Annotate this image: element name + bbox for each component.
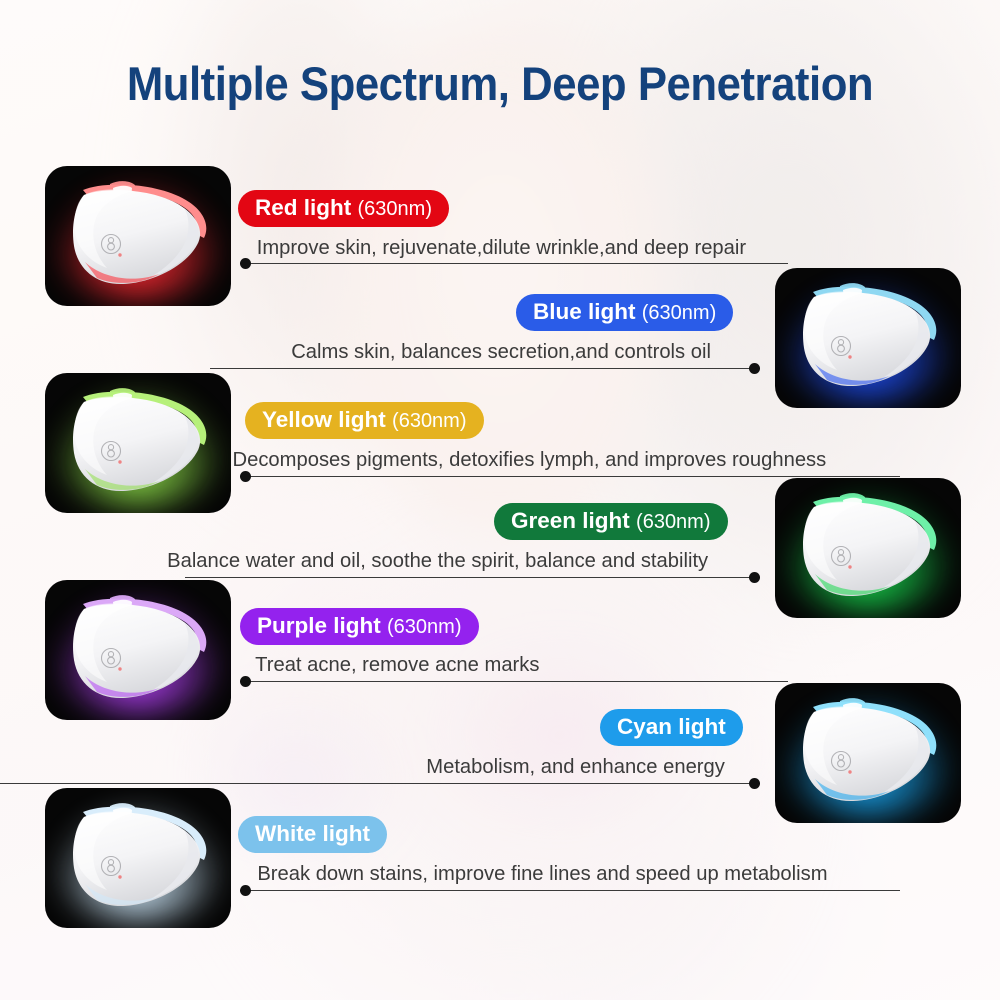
connector-rule-cyan bbox=[0, 783, 760, 784]
light-badge-yellow: Yellow light (630nm) bbox=[245, 402, 484, 439]
connector-dot-cyan bbox=[749, 778, 760, 789]
connector-dot-yellow bbox=[240, 471, 251, 482]
connector-dot-purple bbox=[240, 676, 251, 687]
page-title: Multiple Spectrum, Deep Penetration bbox=[35, 56, 965, 111]
connector-rule-yellow bbox=[240, 476, 900, 477]
light-badge-wavelength-blue: (630nm) bbox=[642, 302, 716, 324]
led-face-mask-red bbox=[63, 182, 213, 290]
led-face-mask-white bbox=[63, 804, 213, 912]
light-badge-label-red: Red light bbox=[255, 195, 351, 220]
light-badge-label-white: White light bbox=[255, 821, 370, 846]
light-badge-cyan: Cyan light bbox=[600, 709, 743, 746]
product-thumbnail-green bbox=[775, 478, 961, 618]
light-description-green: Balance water and oil, soothe the spirit… bbox=[167, 549, 708, 573]
connector-rule-red bbox=[240, 263, 788, 264]
connector-dot-red bbox=[240, 258, 251, 269]
connector-dot-white bbox=[240, 885, 251, 896]
led-face-mask-yellow bbox=[63, 389, 213, 497]
light-description-purple: Treat acne, remove acne marks bbox=[255, 653, 539, 677]
light-badge-wavelength-purple: (630nm) bbox=[387, 616, 461, 638]
led-face-mask-green bbox=[793, 494, 943, 602]
light-badge-purple: Purple light (630nm) bbox=[240, 608, 479, 645]
light-description-yellow: Decomposes pigments, detoxifies lymph, a… bbox=[233, 448, 827, 472]
product-thumbnail-cyan bbox=[775, 683, 961, 823]
connector-line-yellow bbox=[240, 471, 900, 482]
product-thumbnail-purple bbox=[45, 580, 231, 720]
light-badge-green: Green light (630nm) bbox=[494, 503, 728, 540]
light-badge-label-purple: Purple light bbox=[257, 613, 381, 638]
light-description-red: Improve skin, rejuvenate,dilute wrinkle,… bbox=[257, 236, 746, 260]
light-description-blue: Calms skin, balances secretion,and contr… bbox=[291, 340, 711, 364]
light-badge-blue: Blue light (630nm) bbox=[516, 294, 733, 331]
connector-line-purple bbox=[240, 676, 788, 687]
product-thumbnail-blue bbox=[775, 268, 961, 408]
light-badge-red: Red light (630nm) bbox=[238, 190, 449, 227]
connector-dot-green bbox=[749, 572, 760, 583]
light-badge-label-cyan: Cyan light bbox=[617, 714, 726, 739]
product-thumbnail-red bbox=[45, 166, 231, 306]
light-badge-wavelength-red: (630nm) bbox=[358, 198, 432, 220]
led-face-mask-blue bbox=[793, 284, 943, 392]
connector-rule-green bbox=[185, 577, 760, 578]
light-badge-wavelength-yellow: (630nm) bbox=[392, 410, 466, 432]
connector-dot-blue bbox=[749, 363, 760, 374]
led-face-mask-purple bbox=[63, 596, 213, 704]
product-thumbnail-white bbox=[45, 788, 231, 928]
light-description-cyan: Metabolism, and enhance energy bbox=[426, 755, 725, 779]
connector-rule-blue bbox=[210, 368, 760, 369]
connector-line-white bbox=[240, 885, 900, 896]
light-badge-wavelength-green: (630nm) bbox=[636, 511, 710, 533]
connector-rule-white bbox=[240, 890, 900, 891]
light-badge-label-yellow: Yellow light bbox=[262, 407, 386, 432]
connector-line-green bbox=[185, 572, 760, 583]
led-face-mask-cyan bbox=[793, 699, 943, 807]
product-thumbnail-yellow bbox=[45, 373, 231, 513]
light-description-white: Break down stains, improve fine lines an… bbox=[257, 862, 827, 886]
light-badge-label-blue: Blue light bbox=[533, 299, 636, 324]
connector-line-blue bbox=[210, 363, 760, 374]
connector-line-cyan bbox=[0, 778, 760, 789]
light-badge-label-green: Green light bbox=[511, 508, 630, 533]
connector-rule-purple bbox=[240, 681, 788, 682]
light-badge-white: White light bbox=[238, 816, 387, 853]
